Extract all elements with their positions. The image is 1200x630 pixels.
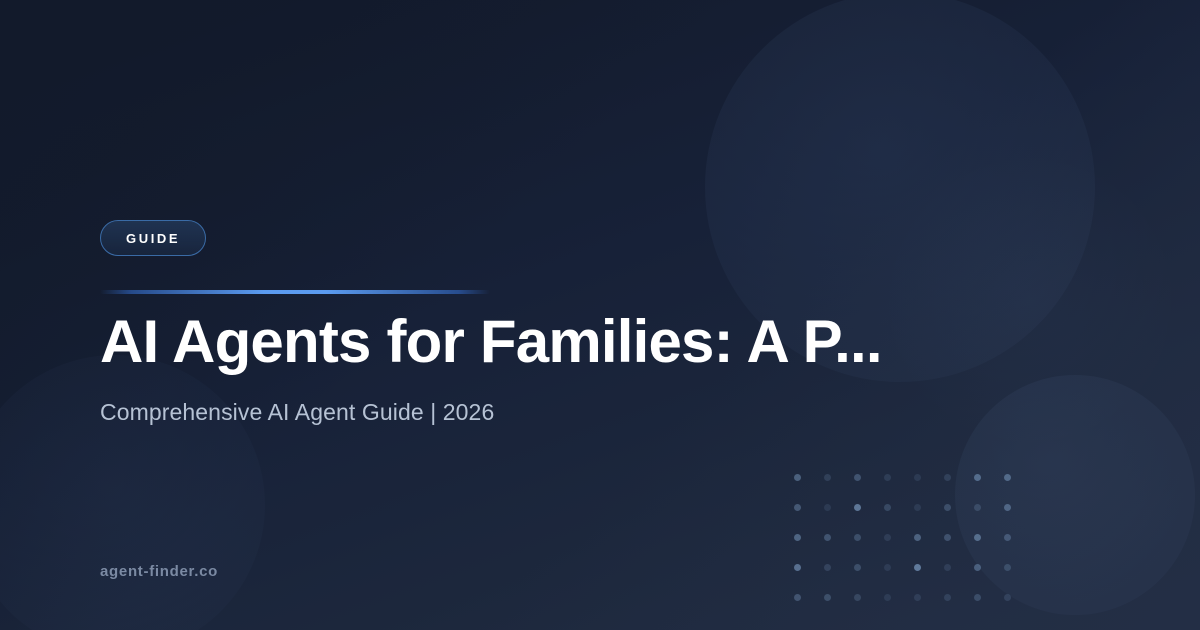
guide-badge: GUIDE [100,220,206,256]
og-card: GUIDE AI Agents for Families: A P... Com… [0,0,1200,630]
card-content: GUIDE AI Agents for Families: A P... Com… [100,0,1100,630]
page-title: AI Agents for Families: A P... [100,308,980,375]
accent-divider-line [100,290,490,294]
page-subtitle: Comprehensive AI Agent Guide | 2026 [100,398,494,428]
footer-domain-label: agent-finder.co [100,563,218,580]
